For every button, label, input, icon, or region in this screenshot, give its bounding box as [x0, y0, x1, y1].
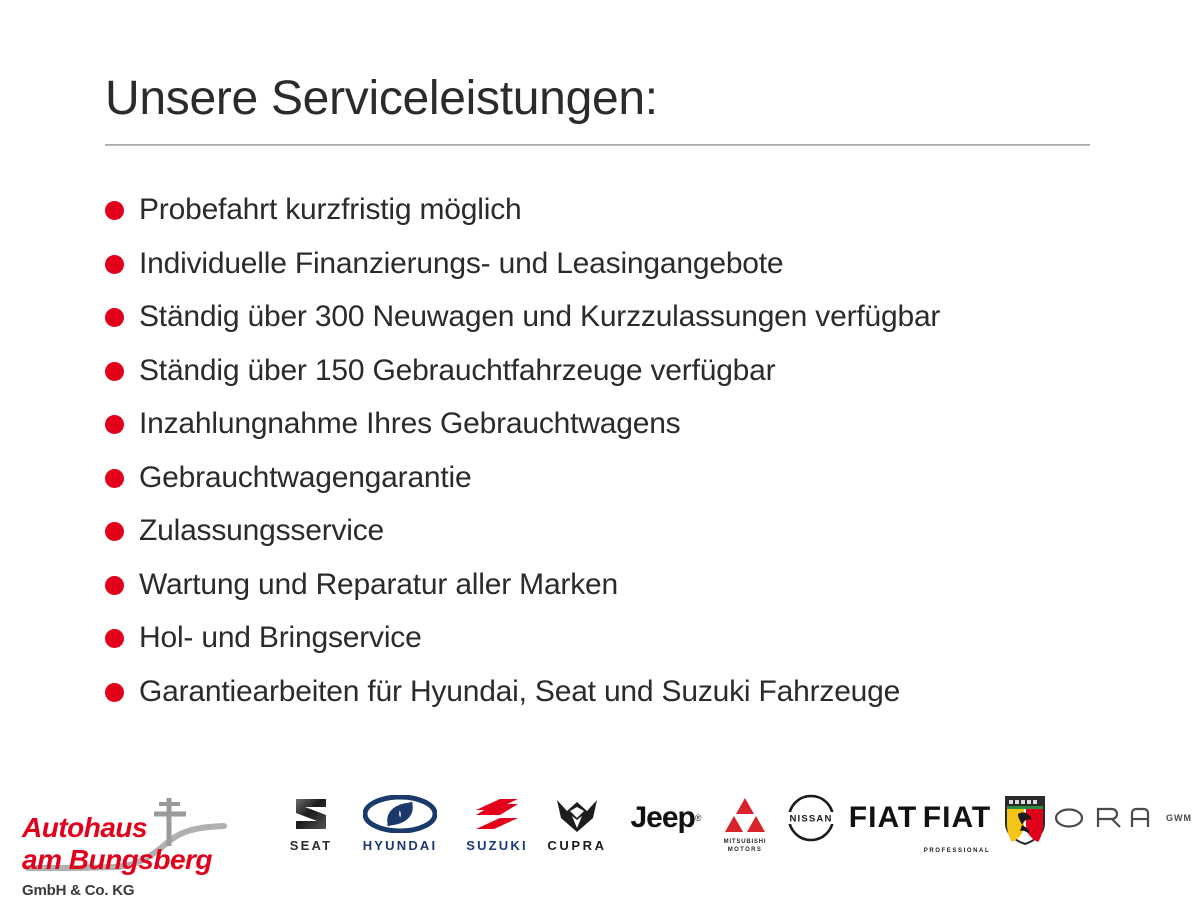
fiat-icon: FIAT	[849, 792, 917, 844]
seat-icon	[291, 792, 331, 836]
service-label: Gebrauchtwagengarantie	[139, 461, 472, 494]
list-item: Hol- und Bringservice	[105, 611, 1125, 665]
footer: Autohaus am Bungsberg GmbH & Co. KG	[0, 770, 1200, 900]
suzuki-icon	[473, 792, 521, 836]
service-label: Inzahlungnahme Ihres Gebrauchtwagens	[139, 407, 681, 440]
fiat-professional-sub-wordmark: PROFESSIONAL	[924, 848, 991, 854]
dealer-logo: Autohaus am Bungsberg GmbH & Co. KG	[18, 790, 268, 900]
service-label: Probefahrt kurzfristig möglich	[139, 193, 521, 226]
gwm-wordmark: GWM	[1166, 813, 1192, 823]
mitsubishi-wordmark: MITSUBISHI	[724, 839, 767, 845]
fiat-wordmark: FIAT	[849, 803, 917, 833]
hyundai-wordmark: HYUNDAI	[363, 839, 438, 852]
jeep-icon: Jeep®	[630, 792, 701, 844]
list-item: Individuelle Finanzierungs- und Leasinga…	[105, 237, 1125, 291]
bullet-icon	[105, 362, 124, 381]
service-label: Hol- und Bringservice	[139, 621, 422, 654]
ora-icon: GWM	[1054, 792, 1192, 844]
title-divider	[105, 144, 1090, 146]
seat-wordmark: SEAT	[290, 839, 333, 852]
service-label: Ständig über 150 Gebrauchtfahrzeuge verf…	[139, 354, 775, 387]
slide-root: Unsere Serviceleistungen: Probefahrt kur…	[0, 0, 1200, 900]
list-item: Zulassungsservice	[105, 504, 1125, 558]
bullet-icon	[105, 576, 124, 595]
svg-text:NISSAN: NISSAN	[789, 814, 832, 825]
cupra-icon	[553, 792, 601, 836]
service-list: Probefahrt kurzfristig möglich Individue…	[105, 183, 1125, 718]
registered-mark-icon: ®	[695, 813, 702, 823]
bullet-icon	[105, 308, 124, 327]
bullet-icon	[105, 201, 124, 220]
dealer-name-line1: Autohaus	[22, 814, 147, 842]
brand-logo-jeep: Jeep®	[620, 792, 712, 872]
mitsubishi-icon	[723, 792, 767, 836]
suzuki-wordmark: SUZUKI	[466, 839, 528, 852]
service-label: Garantiearbeiten für Hyundai, Seat und S…	[139, 675, 900, 708]
fiat-professional-wordmark: FIAT	[923, 803, 991, 833]
hyundai-icon	[363, 792, 437, 836]
bullet-icon	[105, 629, 124, 648]
jeep-wordmark: Jeep	[630, 803, 694, 833]
bullet-icon	[105, 255, 124, 274]
dealer-name-line2: am Bungsberg	[22, 846, 212, 874]
brand-logo-strip: SEAT HYUNDAI	[272, 792, 1192, 892]
title-block: Unsere Serviceleistungen:	[105, 74, 1090, 146]
page-title: Unsere Serviceleistungen:	[105, 74, 1090, 124]
dealer-legal-form: GmbH & Co. KG	[22, 882, 134, 899]
service-label: Wartung und Reparatur aller Marken	[139, 568, 618, 601]
list-item: Probefahrt kurzfristig möglich	[105, 183, 1125, 237]
mitsubishi-sub-wordmark: MOTORS	[728, 847, 763, 853]
brand-logo-fiat: FIAT	[844, 792, 922, 872]
service-label: Ständig über 300 Neuwagen und Kurzzulass…	[139, 300, 940, 333]
cupra-wordmark: CUPRA	[547, 839, 606, 852]
brand-logo-suzuki: SUZUKI	[454, 792, 540, 872]
bullet-icon	[105, 415, 124, 434]
ora-wordmark-icon	[1054, 805, 1158, 831]
list-item: Wartung und Reparatur aller Marken	[105, 558, 1125, 612]
bullet-icon	[105, 522, 124, 541]
brand-logo-seat: SEAT	[272, 792, 350, 872]
list-item: Ständig über 300 Neuwagen und Kurzzulass…	[105, 290, 1125, 344]
brand-logo-hyundai: HYUNDAI	[350, 792, 450, 872]
list-item: Garantiearbeiten für Hyundai, Seat und S…	[105, 665, 1125, 719]
bullet-icon	[105, 469, 124, 488]
list-item: Gebrauchtwagengarantie	[105, 451, 1125, 505]
brand-logo-cupra: CUPRA	[534, 792, 620, 872]
service-label: Individuelle Finanzierungs- und Leasinga…	[139, 247, 783, 280]
bullet-icon	[105, 683, 124, 702]
list-item: Ständig über 150 Gebrauchtfahrzeuge verf…	[105, 344, 1125, 398]
brand-logo-ora: GWM	[1048, 792, 1198, 872]
service-label: Zulassungsservice	[139, 514, 384, 547]
brand-logo-fiat-professional: FIAT PROFESSIONAL	[918, 792, 996, 872]
list-item: Inzahlungnahme Ihres Gebrauchtwagens	[105, 397, 1125, 451]
fiat-professional-icon: FIAT	[923, 792, 991, 844]
abarth-icon	[1004, 792, 1046, 848]
nissan-icon: NISSAN	[785, 792, 837, 844]
brand-logo-nissan: NISSAN	[770, 792, 852, 872]
